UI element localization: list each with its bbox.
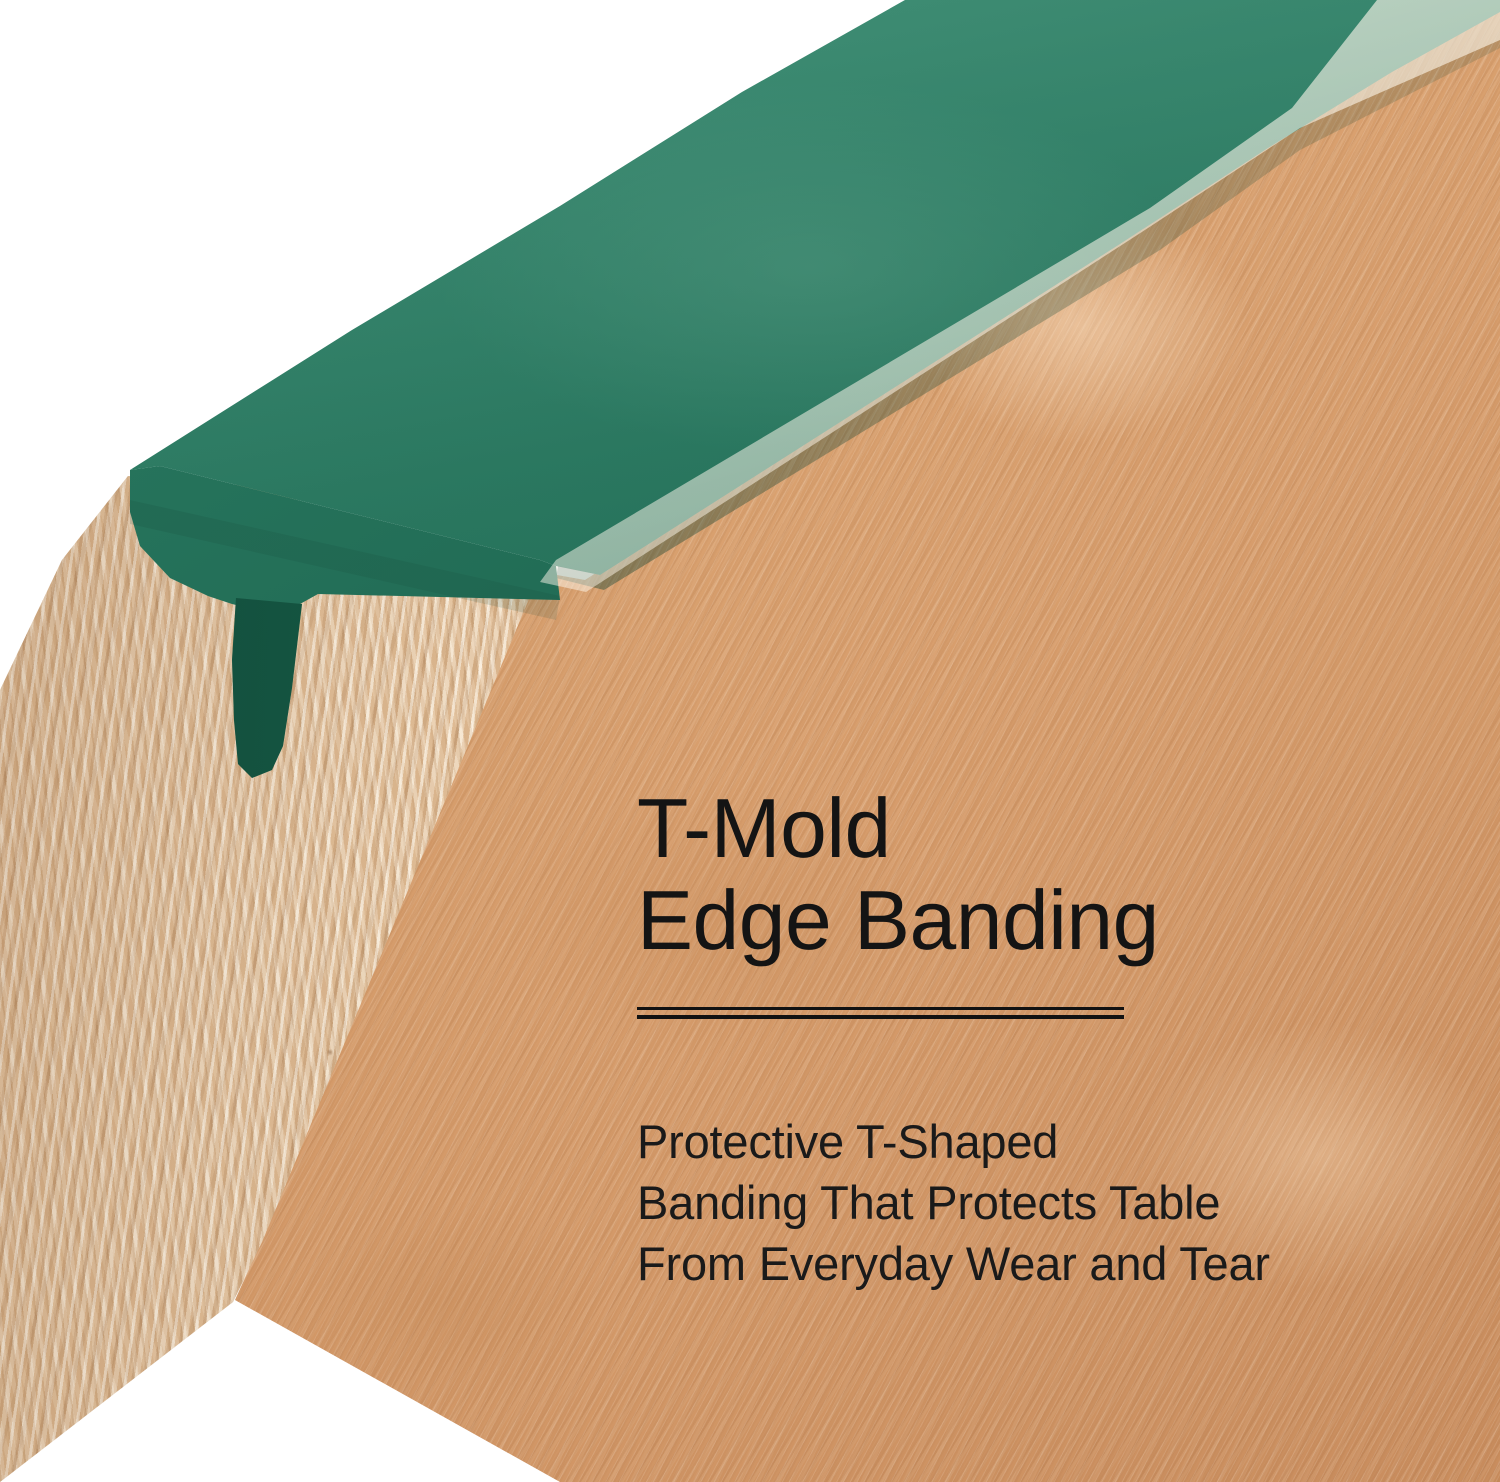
overlay-text-block: T-Mold Edge Banding Protective T-Shaped … [637,782,1337,1294]
divider-line-bottom [637,1015,1124,1019]
product-infographic: T-Mold Edge Banding Protective T-Shaped … [0,0,1500,1482]
divider [637,1007,1124,1019]
subcopy: Protective T-Shaped Banding That Protect… [637,1111,1337,1294]
divider-line-top [637,1007,1124,1010]
headline: T-Mold Edge Banding [637,782,1337,967]
